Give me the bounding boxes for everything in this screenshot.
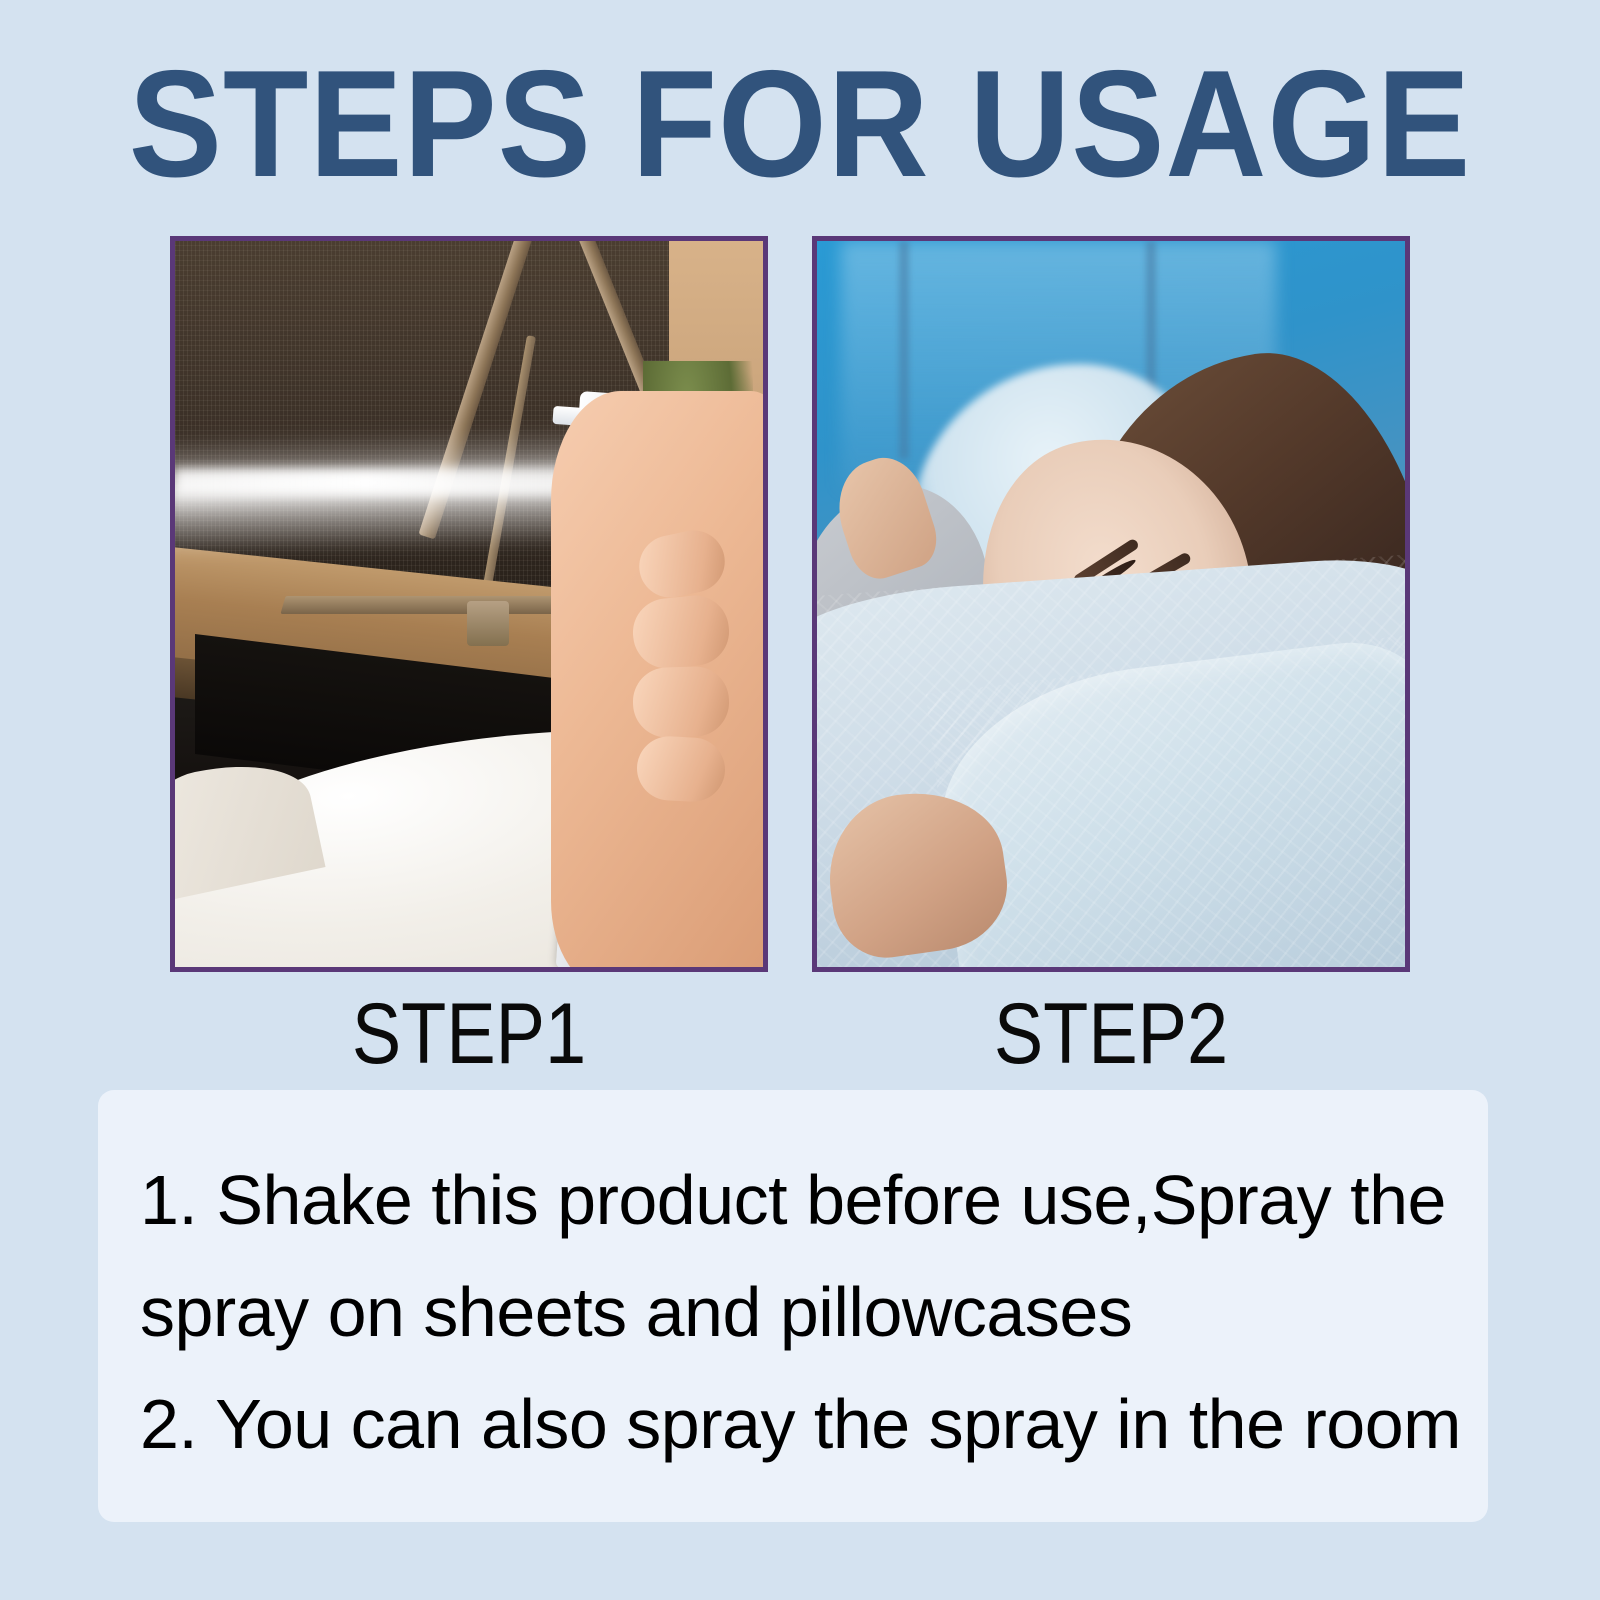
spray-mist-core: [175, 469, 605, 495]
steps-photo-row: [170, 236, 1410, 976]
step1-photo-scene: [175, 241, 763, 967]
finger-little: [635, 735, 726, 804]
step2-label: STEP2: [854, 986, 1368, 1082]
finger-middle: [630, 592, 733, 672]
step1-photo: [170, 236, 768, 972]
hand-holding-bottle: [551, 391, 763, 967]
step-captions: STEP1 STEP2: [170, 986, 1410, 1082]
step2-photo: [812, 236, 1410, 972]
window-mullion-left: [899, 241, 909, 459]
instructions-card: 1. Shake this product before use,Spray t…: [98, 1090, 1488, 1522]
step2-photo-scene: [817, 241, 1405, 967]
page-title: STEPS FOR USAGE: [64, 48, 1536, 200]
instruction-line-1: 1. Shake this product before use,Spray t…: [140, 1144, 1448, 1256]
instruction-line-2: spray on sheets and pillowcases: [140, 1256, 1448, 1368]
finger-index: [633, 525, 730, 604]
lamp-foot: [467, 601, 509, 646]
instruction-line-3: 2. You can also spray the spray in the r…: [140, 1368, 1448, 1480]
step1-label: STEP1: [212, 986, 726, 1082]
poster-root: STEPS FOR USAGE: [0, 0, 1600, 1600]
finger-ring: [632, 665, 730, 738]
